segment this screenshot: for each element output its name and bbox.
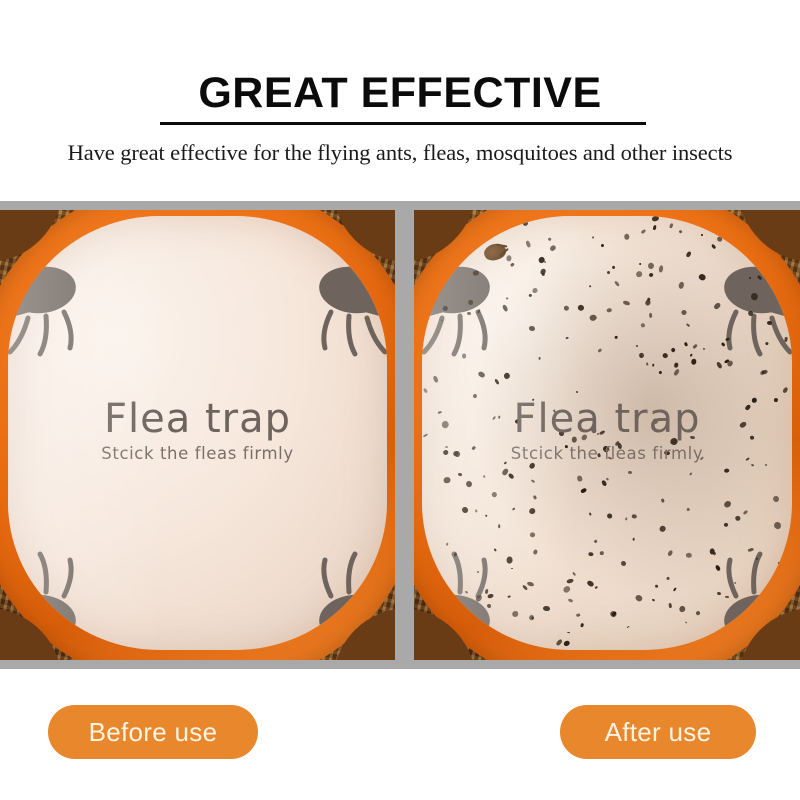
caught-flea-speck [633, 537, 635, 540]
caught-flea-speck [648, 272, 653, 278]
caught-flea-speck [744, 404, 751, 411]
caught-flea-speck [751, 464, 754, 467]
caught-flea-speck [722, 499, 731, 508]
caught-flea-speck [653, 419, 657, 423]
caught-flea-speck [514, 418, 520, 424]
photo-panel-before-inner: Flea trap Stcick the fleas firmly [0, 210, 395, 660]
caught-flea-speck [626, 626, 629, 629]
caught-flea-speck [607, 307, 613, 313]
caught-flea-speck [492, 415, 496, 420]
caught-flea-speck [615, 440, 620, 445]
caught-flea-speck [567, 578, 575, 584]
caught-flea-speck [700, 456, 704, 460]
caught-flea-speck [701, 234, 703, 236]
caught-flea-speck [580, 488, 587, 494]
caught-flea-speck [423, 388, 428, 394]
caught-flea-speck [691, 358, 696, 364]
caught-flea-speck [636, 271, 642, 277]
caught-flea-speck [746, 457, 750, 461]
pad-product-title: Flea trap [8, 398, 387, 440]
caught-flea-speck [723, 522, 728, 528]
caught-flea-speck [521, 584, 527, 590]
caught-flea-speck [667, 577, 670, 580]
caught-flea-speck [774, 398, 778, 403]
header: GREAT EFFECTIVE Have great effective for… [0, 0, 800, 200]
flea-silhouette-icon [422, 546, 508, 650]
flea-silhouette-icon [422, 252, 508, 362]
caught-flea-speck [553, 410, 556, 413]
caught-flea-speck [580, 623, 584, 628]
pad-lettering: Flea trap Stcick the fleas firmly [8, 398, 387, 463]
pad-product-tagline: Stcick the fleas firmly [422, 444, 792, 463]
caught-flea-speck [684, 342, 688, 347]
caught-flea-speck [701, 278, 704, 281]
caught-flea-speck [577, 304, 585, 312]
caught-flea-speck [589, 284, 592, 287]
caught-flea-speck [652, 364, 654, 367]
caught-flea-speck [673, 587, 677, 591]
caught-flea-speck [595, 585, 599, 588]
caught-flea-speck [601, 244, 605, 248]
caught-flea-speck [659, 265, 663, 272]
caught-flea-speck [559, 430, 565, 436]
caught-flea-speck [628, 471, 632, 474]
caught-flea-speck [600, 550, 604, 554]
caught-flea-speck [742, 510, 748, 516]
caught-flea-speck [544, 261, 547, 264]
caught-flea-speck [482, 476, 485, 478]
caught-flea-speck [618, 442, 623, 449]
caught-flea-speck [765, 464, 768, 467]
caught-flea-speck [529, 326, 535, 331]
caught-flea-speck [529, 531, 536, 538]
caught-flea-speck [760, 369, 766, 375]
caught-flea-speck [603, 445, 610, 452]
page-subtitle: Have great effective for the flying ants… [0, 140, 800, 166]
caught-flea-speck [589, 314, 597, 322]
caught-flea-speck [635, 345, 638, 348]
caught-flea-speck [723, 469, 729, 474]
caught-flea-speck [576, 476, 582, 483]
caught-flea-speck [715, 362, 722, 370]
caught-flea-speck [588, 552, 594, 556]
caught-flea-speck [611, 265, 616, 269]
caught-flea-speck [592, 236, 595, 238]
flea-silhouette-icon [8, 252, 94, 362]
caught-flea-speck [734, 515, 741, 521]
page-title: GREAT EFFECTIVE [196, 72, 603, 115]
caught-flea-speck [638, 352, 645, 359]
caught-flea-speck [531, 616, 535, 620]
caught-flea-speck [475, 510, 477, 513]
caught-flea-speck [690, 436, 696, 440]
caught-flea-speck [532, 398, 535, 401]
caught-flea-speck [512, 611, 519, 618]
caught-flea-speck [432, 375, 439, 383]
before-after-photo-strip: Flea trap Stcick the fleas firmly [0, 201, 800, 669]
flea-silhouette-icon [706, 252, 792, 362]
caught-flea-speck [597, 452, 601, 457]
caught-flea-speck [661, 498, 665, 502]
caught-flea-speck [773, 496, 780, 503]
caught-flea-speck [711, 243, 717, 249]
caught-flea-speck [598, 430, 605, 436]
caught-flea-speck [503, 372, 511, 380]
caught-flea-speck [773, 521, 781, 530]
caught-flea-speck [589, 512, 592, 515]
caught-flea-speck [611, 611, 616, 616]
caught-flea-speck [528, 508, 535, 515]
caught-flea-speck [555, 639, 562, 647]
caught-flea-speck [649, 312, 653, 318]
caught-flea-speck [761, 369, 768, 375]
caught-flea-speck [659, 525, 666, 532]
caught-flea-speck [681, 309, 688, 316]
caught-flea-speck [668, 603, 672, 608]
caught-flea-speck [641, 322, 645, 327]
caught-flea-speck [632, 514, 637, 519]
caught-flea-speck [571, 436, 577, 443]
caught-flea-speck [567, 632, 570, 634]
caught-flea-speck [717, 237, 722, 242]
caught-flea-speck [750, 436, 755, 441]
caught-flea-speck [452, 450, 458, 456]
caught-flea-speck [635, 594, 644, 603]
caught-flea-speck [621, 561, 626, 566]
caught-flea-speck [679, 282, 685, 290]
caught-flea-speck [525, 240, 531, 248]
caught-flea-speck [507, 473, 514, 480]
caught-flea-speck [670, 347, 676, 353]
caught-flea-speck [567, 598, 573, 603]
caught-flea-speck [566, 337, 569, 340]
caught-flea-speck [528, 462, 536, 470]
caught-flea-speck [498, 415, 500, 418]
caught-flea-speck [659, 370, 663, 374]
caught-flea-speck [622, 300, 630, 305]
caught-flea-speck [543, 606, 550, 611]
caught-flea-speck [686, 250, 692, 257]
caught-flea-speck [533, 495, 537, 500]
caught-flea-speck [678, 605, 686, 613]
caught-flea-speck [511, 568, 513, 569]
caught-flea-speck [501, 468, 509, 476]
caught-flea-speck [526, 581, 533, 587]
caught-flea-speck [538, 256, 545, 263]
flea-silhouette-icon [8, 546, 94, 650]
caught-flea-speck [441, 420, 450, 429]
caught-flea-speck [498, 524, 500, 528]
photo-panel-after-inner: Flea trap Stcick the fleas firmly [414, 210, 800, 660]
flea-silhouette-icon [301, 546, 387, 650]
caught-flea-speck [547, 237, 551, 241]
caught-flea-speck [645, 300, 651, 307]
caught-flea-speck [572, 572, 577, 577]
caught-flea-speck [667, 549, 674, 556]
caught-flea-speck [563, 305, 569, 311]
caught-flea-speck [510, 263, 515, 268]
caught-flea-speck [531, 480, 535, 484]
caught-flea-speck [690, 353, 693, 356]
caught-flea-speck [607, 514, 612, 519]
after-use-button[interactable]: After use [560, 705, 756, 759]
caught-flea-speck [597, 348, 602, 353]
caught-flea-speck [662, 352, 669, 359]
caught-flea-speck [444, 477, 451, 484]
caught-flea-speck [641, 229, 647, 235]
caught-flea-speck [581, 434, 589, 442]
caught-flea-speck [465, 481, 473, 489]
caught-flea-speck [669, 223, 673, 228]
caught-flea-speck [652, 224, 656, 230]
sticky-pad-clean: Flea trap Stcick the fleas firmly [8, 216, 387, 650]
caught-flea-speck [606, 478, 609, 481]
caught-flea-speck [685, 622, 687, 624]
caught-flea-speck [646, 362, 648, 365]
caught-flea-speck [593, 539, 598, 544]
caught-flea-speck [533, 288, 538, 293]
pad-product-tagline: Stcick the fleas firmly [8, 444, 387, 463]
caught-flea-speck [587, 580, 595, 587]
photo-panel-before[interactable]: Flea trap Stcick the fleas firmly [0, 210, 395, 660]
caught-flea-speck [445, 446, 448, 448]
caught-flea-speck [781, 386, 788, 394]
caught-flea-speck [597, 432, 599, 434]
caught-flea-speck [576, 391, 578, 393]
caught-flea-speck [689, 473, 693, 477]
caught-flea-speck [512, 507, 516, 511]
caught-flea-speck [446, 542, 448, 545]
caught-flea-speck [687, 507, 690, 511]
caught-flea-speck [471, 445, 476, 450]
caught-flea-speck [686, 323, 690, 327]
before-use-button[interactable]: Before use [48, 705, 258, 759]
caught-flea-speck [508, 595, 511, 597]
caught-flea-speck [442, 449, 449, 456]
caught-flea-speck [674, 362, 678, 367]
caught-flea-speck [422, 433, 427, 438]
caught-flea-speck [485, 514, 488, 517]
caught-flea-speck [477, 371, 486, 379]
caught-flea-speck [472, 393, 477, 398]
sticky-pad-used: Flea trap Stcick the fleas firmly [422, 216, 792, 650]
caught-flea-speck [529, 293, 533, 297]
caught-flea-speck [615, 336, 618, 339]
caught-flea-speck [652, 216, 660, 222]
caught-flea-speck [606, 271, 610, 275]
caught-flea-speck [614, 280, 620, 286]
caught-flea-speck [549, 245, 556, 253]
caption-footer: Before use After use [0, 669, 800, 800]
caught-flea-speck [752, 398, 757, 403]
title-underline-rule [160, 122, 646, 125]
caught-flea-speck [664, 450, 671, 455]
caught-flea-speck [609, 609, 618, 617]
caught-flea-speck [494, 378, 500, 384]
caught-flea-speck [693, 344, 698, 349]
caught-flea-speck [503, 462, 506, 465]
pad-lettering: Flea trap Stcick the fleas firmly [422, 398, 792, 463]
caught-flea-speck [563, 585, 571, 593]
caught-flea-speck [533, 549, 538, 554]
caught-flea-speck [673, 368, 680, 376]
caught-flea-speck [528, 614, 535, 621]
photo-panel-after[interactable]: Flea trap Stcick the fleas firmly [414, 210, 800, 660]
caught-flea-speck [696, 610, 701, 615]
flea-silhouette-icon [706, 546, 792, 650]
caught-flea-speck [454, 450, 461, 457]
page-title-wrap: GREAT EFFECTIVE [0, 72, 800, 115]
flea-silhouette-icon [301, 252, 387, 362]
caught-flea-speck [686, 553, 692, 558]
caught-flea-speck [461, 507, 468, 514]
caught-flea-speck [600, 479, 607, 486]
caught-flea-speck [697, 272, 706, 281]
caught-flea-speck [542, 273, 545, 276]
caught-flea-speck [651, 598, 654, 601]
caught-flea-speck [625, 517, 627, 520]
caught-flea-speck [576, 613, 581, 617]
caught-flea-speck [624, 234, 630, 240]
caught-flea-speck [540, 268, 547, 276]
caught-flea-speck [647, 261, 655, 269]
caught-flea-speck [438, 411, 442, 414]
caught-flea-speck [538, 357, 540, 360]
caught-flea-speck [679, 230, 683, 234]
caught-flea-speck [608, 456, 612, 459]
caught-flea-speck [646, 297, 650, 301]
caught-flea-speck [563, 639, 571, 646]
caught-flea-speck [565, 445, 568, 448]
caught-flea-speck [590, 425, 598, 433]
caught-flea-speck [655, 585, 658, 588]
caught-flea-speck [670, 437, 679, 446]
caught-flea-speck [491, 491, 497, 497]
caught-flea-speck [639, 262, 641, 265]
pad-product-title: Flea trap [422, 398, 792, 440]
caught-flea-speck [458, 472, 462, 476]
caught-flea-speck [739, 421, 747, 429]
caught-flea-speck [652, 417, 659, 424]
